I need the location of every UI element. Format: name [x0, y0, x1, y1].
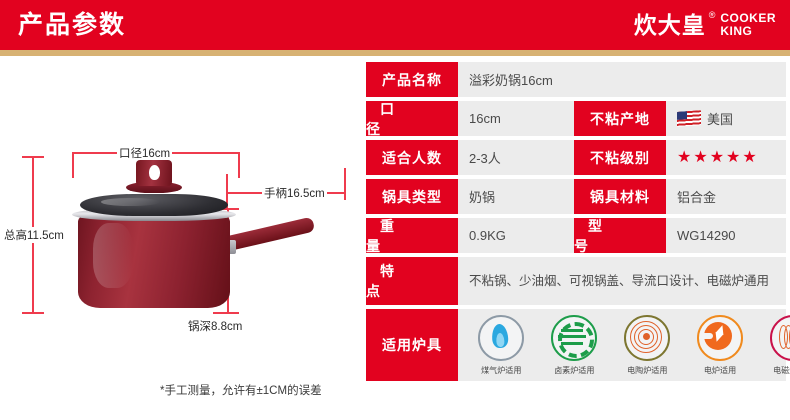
- spec-label-product-name: 产品名称: [366, 62, 458, 97]
- spec-value-features: 不粘锅、少油烟、可视锅盖、导流口设计、电磁炉通用: [458, 257, 786, 305]
- stove-item-halogen: 卤素炉适用: [543, 315, 605, 376]
- spec-label-coating-origin: 不粘产地: [574, 101, 666, 136]
- features-text: 不粘锅、少油烟、可视锅盖、导流口设计、电磁炉通用: [469, 267, 769, 296]
- spec-value-servings: 2-3人: [458, 140, 574, 175]
- table-row: 锅具类型 奶锅 锅具材料 铝合金: [366, 179, 786, 214]
- stove-item-electric: 电炉适用: [689, 315, 751, 376]
- coating-origin-wrap: 美国: [677, 109, 733, 128]
- spec-value-product-name: 溢彩奶锅16cm: [458, 62, 786, 97]
- ceramic-icon: [624, 315, 670, 361]
- table-row: 适用炉具 煤气炉适用 卤素炉适用: [366, 309, 786, 381]
- measurement-footnote: *手工测量，允许有±1CM的误差: [160, 382, 322, 398]
- star-icon: ★: [742, 150, 756, 166]
- star-icon: ★: [693, 150, 707, 166]
- table-row: 口 径 16cm 不粘产地 美国: [366, 101, 786, 136]
- stove-item-ceramic: 电陶炉适用: [616, 315, 678, 376]
- brand-name-cn: 炊大皇: [634, 11, 706, 39]
- dim-total-height-label: 总高11.5cm: [2, 227, 66, 243]
- table-row: 特 点 不粘锅、少油烟、可视锅盖、导流口设计、电磁炉通用: [366, 257, 786, 305]
- brand-name-en: COOKER KING: [720, 12, 776, 38]
- table-row: 适合人数 2-3人 不粘级别 ★ ★ ★ ★ ★: [366, 140, 786, 175]
- stove-caption-induction: 电磁炉适用: [773, 364, 790, 375]
- stove-icon-list: 煤气炉适用 卤素炉适用 电陶炉适用: [458, 315, 790, 376]
- spec-label-model: 型 号: [574, 218, 666, 253]
- spec-label-features: 特 点: [366, 257, 458, 305]
- table-row: 产品名称 溢彩奶锅16cm: [366, 62, 786, 97]
- page-title: 产品参数: [18, 8, 126, 42]
- spec-value-weight: 0.9KG: [458, 218, 574, 253]
- product-spec-page: 产品参数 炊大皇 ® COOKER KING 口径16cm 总高11.5cm 手…: [0, 0, 790, 420]
- height-tick-top: [22, 156, 44, 158]
- spec-value-coating-origin: 美国: [666, 101, 786, 136]
- spec-label-stove-compat: 适用炉具: [366, 309, 458, 381]
- brand-logo: 炊大皇 ® COOKER KING: [634, 6, 776, 44]
- spec-label-diameter: 口 径: [366, 101, 458, 136]
- coating-origin-text: 美国: [707, 109, 733, 128]
- stove-caption-gas: 煤气炉适用: [481, 364, 521, 375]
- star-icon: ★: [677, 150, 691, 166]
- height-tick-bottom: [22, 312, 44, 314]
- table-row: 重 量 0.9KG 型 号 WG14290: [366, 218, 786, 253]
- product-illustration: 口径16cm 总高11.5cm 手柄16.5cm 锅深8.8cm 炊大皇 *手工…: [0, 56, 362, 420]
- dim-depth-label: 锅深8.8cm: [186, 318, 244, 334]
- stove-caption-halogen: 卤素炉适用: [554, 364, 594, 375]
- star-icon: ★: [726, 150, 740, 166]
- spec-label-material: 锅具材料: [574, 179, 666, 214]
- induction-icon: [770, 315, 790, 361]
- dim-diameter-label: 口径16cm: [117, 145, 172, 161]
- electric-icon: [697, 315, 743, 361]
- spec-label-cookware-type: 锅具类型: [366, 179, 458, 214]
- spec-value-material: 铝合金: [666, 179, 786, 214]
- registered-trademark-icon: ®: [709, 10, 716, 20]
- stove-caption-electric: 电炉适用: [704, 364, 736, 375]
- pot-body: [78, 216, 230, 308]
- pot-drawing: 炊大皇: [60, 164, 320, 314]
- spec-label-servings: 适合人数: [366, 140, 458, 175]
- gas-flame-icon: [478, 315, 524, 361]
- flag-canton: [677, 111, 687, 120]
- spec-value-diameter: 16cm: [458, 101, 574, 136]
- stove-item-induction: 电磁炉适用: [762, 315, 790, 376]
- page-header: 产品参数 炊大皇 ® COOKER KING: [0, 0, 790, 50]
- star-icon: ★: [710, 150, 724, 166]
- spec-value-cookware-type: 奶锅: [458, 179, 574, 214]
- spec-table: 产品名称 溢彩奶锅16cm 口 径 16cm 不粘产地 美国 适合人数 2-3人…: [366, 62, 786, 385]
- us-flag-icon: [677, 110, 701, 127]
- spec-label-coating-grade: 不粘级别: [574, 140, 666, 175]
- lid-knob-hole: [149, 165, 160, 180]
- rating-stars: ★ ★ ★ ★ ★: [677, 150, 757, 166]
- spec-label-weight: 重 量: [366, 218, 458, 253]
- spec-value-model: WG14290: [666, 218, 786, 253]
- spec-value-coating-grade: ★ ★ ★ ★ ★: [666, 140, 786, 175]
- stove-caption-ceramic: 电陶炉适用: [627, 364, 667, 375]
- stove-item-gas: 煤气炉适用: [470, 315, 532, 376]
- halogen-icon: [551, 315, 597, 361]
- spec-value-stove-compat: 煤气炉适用 卤素炉适用 电陶炉适用: [458, 309, 786, 381]
- handle-line-right: [344, 168, 346, 200]
- glass-lid: [80, 194, 228, 216]
- brand-en-line2: KING: [720, 25, 776, 38]
